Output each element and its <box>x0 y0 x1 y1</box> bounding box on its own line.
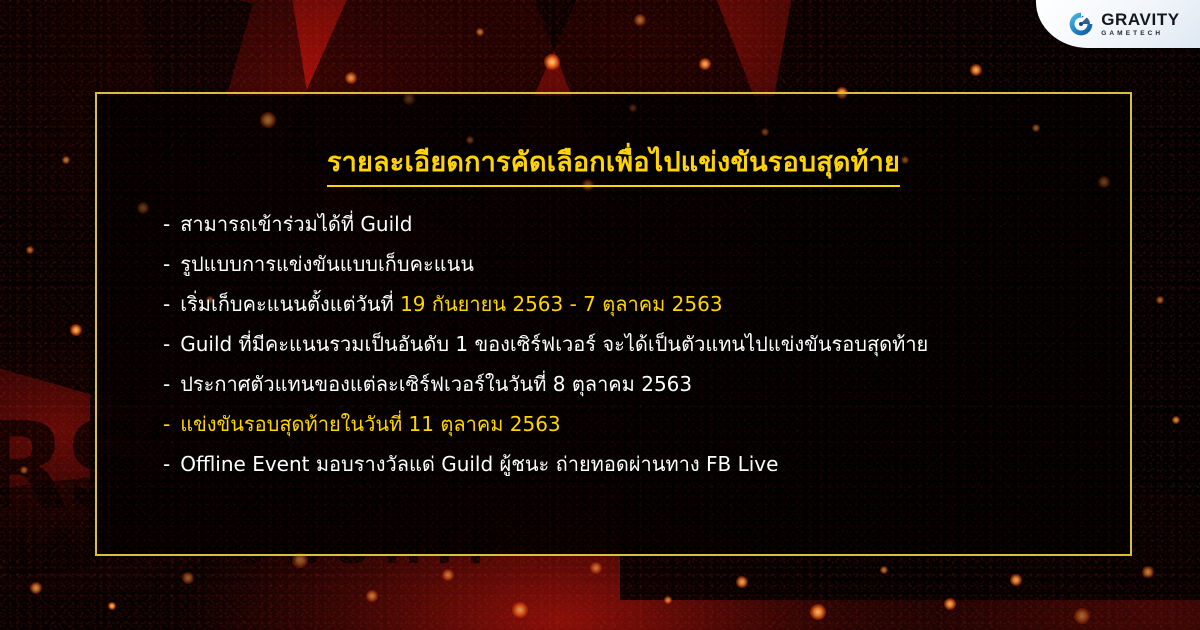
bullet-marker: - <box>163 293 170 316</box>
list-item: -เริ่มเก็บคะแนนตั้งแต่วันที่ 19 กันยายน … <box>163 293 1090 316</box>
list-item-text: Offline Event มอบรางวัลแด่ Guild ผู้ชนะ … <box>180 453 778 476</box>
bullet-marker: - <box>163 453 170 476</box>
bullet-marker: - <box>163 213 170 236</box>
gravity-circle-swoosh-icon <box>1068 11 1094 37</box>
poster-canvas: RST HAMPIONSHIP GRAVITY GAMETECH <box>0 0 1200 630</box>
list-item-text: รูปแบบการแข่งขันแบบเก็บคะแนน <box>180 253 474 276</box>
list-item: -แข่งขันรอบสุดท้ายในวันที่ 11 ตุลาคม 256… <box>163 413 1090 436</box>
plain-text: ประกาศตัวแทนของแต่ละเซิร์ฟเวอร์ในวันที่ … <box>180 372 692 396</box>
list-item: -ประกาศตัวแทนของแต่ละเซิร์ฟเวอร์ในวันที่… <box>163 373 1090 396</box>
content-body: รายละเอียดการคัดเลือกเพื่อไปแข่งขันรอบสุ… <box>97 94 1130 554</box>
highlighted-text: แข่งขันรอบสุดท้ายในวันที่ 11 ตุลาคม 2563 <box>180 412 560 436</box>
bullet-marker: - <box>163 333 170 356</box>
bullet-marker: - <box>163 413 170 436</box>
plain-text: Offline Event มอบรางวัลแด่ Guild ผู้ชนะ … <box>180 452 778 476</box>
list-item-text: ประกาศตัวแทนของแต่ละเซิร์ฟเวอร์ในวันที่ … <box>180 373 692 396</box>
list-item-text: สามารถเข้าร่วมได้ที่ Guild <box>180 213 412 236</box>
brand-name: GRAVITY <box>1101 11 1180 28</box>
panel-title-wrap: รายละเอียดการคัดเลือกเพื่อไปแข่งขันรอบสุ… <box>137 146 1090 187</box>
list-item: -รูปแบบการแข่งขันแบบเก็บคะแนน <box>163 253 1090 276</box>
list-item-text: Guild ที่มีคะแนนรวมเป็นอันดับ 1 ของเซิร์… <box>180 333 928 356</box>
page-title: รายละเอียดการคัดเลือกเพื่อไปแข่งขันรอบสุ… <box>327 146 900 187</box>
bullet-marker: - <box>163 373 170 396</box>
content-frame: รายละเอียดการคัดเลือกเพื่อไปแข่งขันรอบสุ… <box>95 92 1132 556</box>
highlighted-text: 19 กันยายน 2563 - 7 ตุลาคม 2563 <box>400 292 723 316</box>
details-list: -สามารถเข้าร่วมได้ที่ Guild-รูปแบบการแข่… <box>137 213 1090 476</box>
list-item: -Offline Event มอบรางวัลแด่ Guild ผู้ชนะ… <box>163 453 1090 476</box>
brand-logo: GRAVITY GAMETECH <box>1036 0 1200 48</box>
plain-text: เริ่มเก็บคะแนนตั้งแต่วันที่ <box>180 292 400 316</box>
list-item: -สามารถเข้าร่วมได้ที่ Guild <box>163 213 1090 236</box>
list-item-text: เริ่มเก็บคะแนนตั้งแต่วันที่ 19 กันยายน 2… <box>180 293 722 316</box>
list-item: -Guild ที่มีคะแนนรวมเป็นอันดับ 1 ของเซิร… <box>163 333 1090 356</box>
brand-tagline: GAMETECH <box>1101 31 1180 38</box>
bullet-marker: - <box>163 253 170 276</box>
plain-text: รูปแบบการแข่งขันแบบเก็บคะแนน <box>180 252 474 276</box>
plain-text: Guild ที่มีคะแนนรวมเป็นอันดับ 1 ของเซิร์… <box>180 332 928 356</box>
brand-wordmark: GRAVITY GAMETECH <box>1101 11 1180 38</box>
plain-text: สามารถเข้าร่วมได้ที่ Guild <box>180 212 412 236</box>
list-item-text: แข่งขันรอบสุดท้ายในวันที่ 11 ตุลาคม 2563 <box>180 413 560 436</box>
